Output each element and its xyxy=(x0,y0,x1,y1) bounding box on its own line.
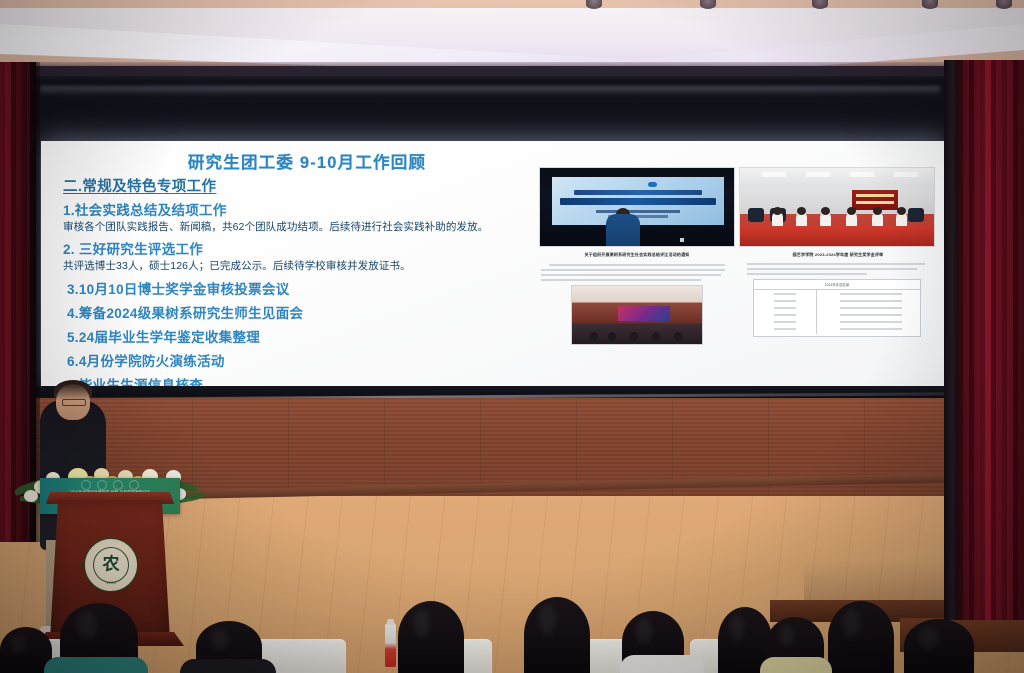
ceiling-downlight xyxy=(996,0,1012,9)
table-row xyxy=(754,328,920,331)
doc-table-caption: 2024年评选名单 xyxy=(754,282,920,287)
photo-audience-head xyxy=(630,332,638,341)
banner-logo-icon xyxy=(81,480,91,490)
audience-person xyxy=(524,597,590,673)
slide-item1-body: 审核各个团队实践报告、新闻稿，共62个团队成功结项。后续待进行社会实践补助的发放… xyxy=(63,220,515,235)
photo-chair xyxy=(748,208,764,222)
doc-text-line xyxy=(541,269,725,271)
photo-speaker-body xyxy=(606,214,640,246)
audience-shoulder xyxy=(180,659,276,673)
glasses-icon xyxy=(62,399,86,406)
slide-list-item: 5.24届毕业生学年鉴定收集整理 xyxy=(67,326,533,346)
table-cell xyxy=(774,314,796,316)
banner-logo-icon xyxy=(97,480,107,490)
table-header-rule xyxy=(754,289,920,290)
table-row xyxy=(754,321,920,324)
table-cell xyxy=(840,293,902,295)
table-cell xyxy=(840,307,902,309)
slide-list-item: 6.4月份学院防火演练活动 xyxy=(67,350,533,370)
table-row xyxy=(754,300,920,303)
auditorium-scene: 研究生团工委 9-10月工作回顾 二.常规及特色专项工作 1.社会实践总结及结项… xyxy=(0,0,1024,673)
photo-marker-dot xyxy=(680,238,684,242)
table-cell xyxy=(774,300,796,302)
photo-caption-bar xyxy=(596,210,680,213)
table-row xyxy=(754,293,920,296)
audience-shoulder xyxy=(620,655,704,673)
slide-section-heading: 二.常规及特色专项工作 xyxy=(63,175,533,196)
table-row xyxy=(754,314,920,317)
photo-audience-head xyxy=(590,332,598,341)
ceiling-downlight xyxy=(700,0,716,9)
photo-audience-head xyxy=(608,332,616,341)
photo-chair xyxy=(908,208,924,222)
banner-logo-icons xyxy=(54,480,166,489)
audience-person xyxy=(398,601,464,673)
photo-logo-badge xyxy=(648,182,657,187)
photo-headline-bar xyxy=(574,190,702,195)
presentation-slide: 研究生团工委 9-10月工作回顾 二.常规及特色专项工作 1.社会实践总结及结项… xyxy=(41,141,947,386)
slide-list-item: 4.筹备2024级果树系研究生师生见面会 xyxy=(67,302,533,322)
doc-text-line xyxy=(747,268,917,270)
slide-media-column: 关于组织开展果树系研究生社会实践总结评比活动的通知 xyxy=(539,155,939,380)
ceiling-downlight xyxy=(812,0,828,9)
audience-shoulder xyxy=(44,657,148,673)
projection-event-photo xyxy=(539,167,735,247)
slide-item1-heading: 1.社会实践总结及结项工作 xyxy=(63,199,533,219)
hall-event-photo xyxy=(571,285,703,345)
slide-photo-row xyxy=(539,167,935,245)
slide-item2-body: 共评选博士33人，硕士126人；已完成公示。后续待学校审核并发放证书。 xyxy=(63,259,515,274)
photo-ceiling-light xyxy=(806,172,830,177)
stage-curtain-right xyxy=(958,60,1024,620)
photo-stage-screen xyxy=(618,306,670,321)
table-cell xyxy=(774,328,796,330)
table-cell xyxy=(840,321,902,323)
table-cell xyxy=(840,300,902,302)
ceiling-downlight xyxy=(922,0,938,9)
doc-left-title: 关于组织开展果树系研究生社会实践总结评比活动的通知 xyxy=(551,251,723,259)
doc-results-table: 2024年评选名单 xyxy=(753,279,921,337)
banner-logo-icon xyxy=(129,480,139,490)
photo-subheadline-bar xyxy=(560,198,716,205)
audience-person xyxy=(828,601,894,673)
meeting-room-photo xyxy=(739,167,935,247)
table-row xyxy=(754,307,920,310)
water-bottle xyxy=(385,623,396,667)
audience-person xyxy=(904,619,974,673)
photo-ceiling-light xyxy=(894,172,918,177)
photo-audience-head xyxy=(674,332,682,341)
bottle-cap xyxy=(387,619,394,625)
slide-list-item: 3.10月10日博士奖学金审核投票会议 xyxy=(67,278,533,298)
slide-title: 研究生团工委 9-10月工作回顾 xyxy=(81,149,533,173)
table-cell xyxy=(840,328,902,330)
table-cell xyxy=(774,293,796,295)
photo-conference-table xyxy=(740,226,935,246)
slide-text-column: 研究生团工委 9-10月工作回顾 二.常规及特色专项工作 1.社会实践总结及结项… xyxy=(63,145,533,383)
photo-ceiling-light xyxy=(762,172,786,177)
doc-right-title: 园艺学学院 2023-2024学年度 研究生奖学金评审 xyxy=(755,251,921,259)
table-cell xyxy=(774,307,796,309)
photo-ceiling xyxy=(740,168,935,188)
doc-text-line xyxy=(549,264,725,266)
table-cell xyxy=(774,321,796,323)
doc-text-line xyxy=(541,274,721,276)
doc-text-line xyxy=(541,279,701,281)
audience-row xyxy=(0,563,1024,673)
doc-text-line xyxy=(747,273,867,275)
screen-pillar-right xyxy=(944,60,958,620)
ceiling-downlight xyxy=(586,0,602,9)
photo-audience-head xyxy=(652,332,660,341)
slide-item2-heading: 2. 三好研究生评选工作 xyxy=(63,238,533,258)
banner-logo-icon xyxy=(113,480,123,490)
photo-ceiling-light xyxy=(850,172,874,177)
audience-shoulder xyxy=(760,657,832,673)
screen-top-glow xyxy=(40,86,940,96)
table-cell xyxy=(840,314,902,316)
doc-text-line xyxy=(747,263,925,265)
